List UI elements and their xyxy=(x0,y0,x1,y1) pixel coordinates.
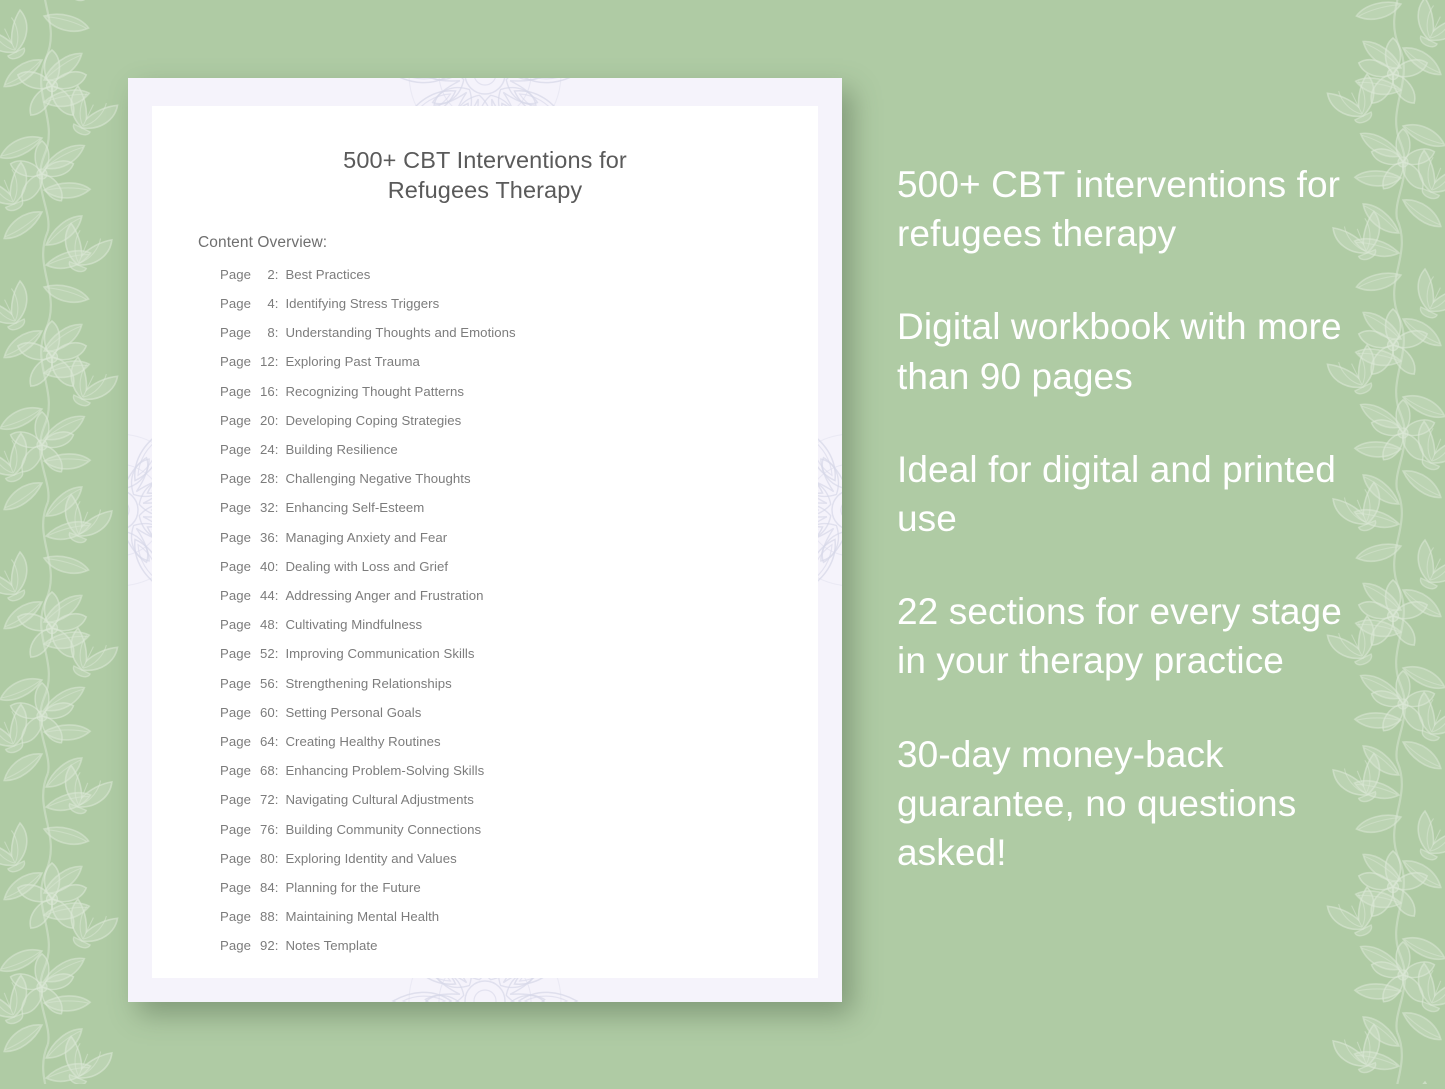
toc-page-number: 84 xyxy=(255,881,275,894)
marketing-column: 500+ CBT interventions for refugees ther… xyxy=(897,160,1349,877)
page-title-line-1: 500+ CBT Interventions for xyxy=(343,147,627,173)
toc-colon: : xyxy=(275,939,286,952)
toc-row[interactable]: Page 80:Exploring Identity and Values xyxy=(220,852,818,865)
toc-section-title: Best Practices xyxy=(285,268,370,281)
toc-section-title: Enhancing Problem-Solving Skills xyxy=(285,764,484,777)
toc-page-number: 80 xyxy=(255,852,275,865)
toc-section-title: Building Community Connections xyxy=(285,823,481,836)
toc-page-word: Page xyxy=(220,414,255,427)
toc-row[interactable]: Page 76:Building Community Connections xyxy=(220,823,818,836)
toc-row[interactable]: Page 12:Exploring Past Trauma xyxy=(220,355,818,368)
toc-section-title: Exploring Identity and Values xyxy=(285,852,456,865)
toc-page-number: 64 xyxy=(255,735,275,748)
toc-colon: : xyxy=(275,881,286,894)
page-title-line-2: Refugees Therapy xyxy=(388,177,583,203)
toc-section-title: Improving Communication Skills xyxy=(285,647,474,660)
toc-page-number: 60 xyxy=(255,706,275,719)
workbook-page: 500+ CBT Interventions for Refugees Ther… xyxy=(152,106,818,978)
toc-page-number: 2 xyxy=(255,268,275,281)
toc-row[interactable]: Page 24:Building Resilience xyxy=(220,443,818,456)
toc-section-title: Planning for the Future xyxy=(285,881,420,894)
toc-page-number: 12 xyxy=(255,355,275,368)
toc-section-title: Recognizing Thought Patterns xyxy=(285,385,464,398)
toc-page-word: Page xyxy=(220,443,255,456)
toc-colon: : xyxy=(275,764,286,777)
toc-colon: : xyxy=(275,706,286,719)
toc-page-number: 32 xyxy=(255,501,275,514)
marketing-line: 22 sections for every stage in your ther… xyxy=(897,587,1349,685)
toc-page-word: Page xyxy=(220,531,255,544)
toc-row[interactable]: Page 60:Setting Personal Goals xyxy=(220,706,818,719)
toc-row[interactable]: Page 36:Managing Anxiety and Fear xyxy=(220,531,818,544)
toc-page-word: Page xyxy=(220,268,255,281)
toc-row[interactable]: Page 4:Identifying Stress Triggers xyxy=(220,297,818,310)
toc-section-title: Enhancing Self-Esteem xyxy=(285,501,424,514)
toc-row[interactable]: Page 40:Dealing with Loss and Grief xyxy=(220,560,818,573)
toc-colon: : xyxy=(275,823,286,836)
toc-page-number: 92 xyxy=(255,939,275,952)
toc-page-number: 76 xyxy=(255,823,275,836)
toc-page-word: Page xyxy=(220,764,255,777)
toc-row[interactable]: Page 92:Notes Template xyxy=(220,939,818,952)
toc-section-title: Exploring Past Trauma xyxy=(285,355,419,368)
toc-page-number: 52 xyxy=(255,647,275,660)
toc-colon: : xyxy=(275,326,286,339)
toc-colon: : xyxy=(275,589,286,602)
marketing-line: Digital workbook with more than 90 pages xyxy=(897,302,1349,400)
toc-page-word: Page xyxy=(220,501,255,514)
toc-section-title: Notes Template xyxy=(285,939,377,952)
toc-colon: : xyxy=(275,647,286,660)
content-overview-label: Content Overview: xyxy=(152,206,818,252)
toc-page-word: Page xyxy=(220,326,255,339)
toc-colon: : xyxy=(275,297,286,310)
toc-colon: : xyxy=(275,268,286,281)
toc-page-word: Page xyxy=(220,706,255,719)
toc-page-number: 44 xyxy=(255,589,275,602)
toc-page-word: Page xyxy=(220,297,255,310)
toc-page-word: Page xyxy=(220,793,255,806)
toc-page-word: Page xyxy=(220,677,255,690)
toc-colon: : xyxy=(275,355,286,368)
toc-row[interactable]: Page 88:Maintaining Mental Health xyxy=(220,910,818,923)
toc-colon: : xyxy=(275,531,286,544)
toc-page-word: Page xyxy=(220,560,255,573)
toc-page-number: 88 xyxy=(255,910,275,923)
marketing-line: 500+ CBT interventions for refugees ther… xyxy=(897,160,1349,258)
toc-page-word: Page xyxy=(220,910,255,923)
toc-page-number: 68 xyxy=(255,764,275,777)
toc-row[interactable]: Page 16:Recognizing Thought Patterns xyxy=(220,385,818,398)
toc-page-number: 56 xyxy=(255,677,275,690)
toc-colon: : xyxy=(275,852,286,865)
toc-section-title: Dealing with Loss and Grief xyxy=(285,560,448,573)
toc-section-title: Developing Coping Strategies xyxy=(285,414,461,427)
toc-row[interactable]: Page 68:Enhancing Problem-Solving Skills xyxy=(220,764,818,777)
toc-colon: : xyxy=(275,677,286,690)
toc-colon: : xyxy=(275,472,286,485)
toc-page-word: Page xyxy=(220,589,255,602)
toc-colon: : xyxy=(275,560,286,573)
toc-page-number: 24 xyxy=(255,443,275,456)
toc-row[interactable]: Page 64:Creating Healthy Routines xyxy=(220,735,818,748)
toc-section-title: Navigating Cultural Adjustments xyxy=(285,793,473,806)
toc-page-number: 72 xyxy=(255,793,275,806)
toc-page-word: Page xyxy=(220,618,255,631)
toc-section-title: Understanding Thoughts and Emotions xyxy=(285,326,515,339)
toc-section-title: Addressing Anger and Frustration xyxy=(285,589,483,602)
toc-page-word: Page xyxy=(220,939,255,952)
toc-colon: : xyxy=(275,501,286,514)
toc-page-number: 20 xyxy=(255,414,275,427)
toc-section-title: Setting Personal Goals xyxy=(285,706,421,719)
toc-section-title: Maintaining Mental Health xyxy=(285,910,439,923)
marketing-line: Ideal for digital and printed use xyxy=(897,445,1349,543)
toc-colon: : xyxy=(275,618,286,631)
toc-row[interactable]: Page 72:Navigating Cultural Adjustments xyxy=(220,793,818,806)
toc-page-number: 28 xyxy=(255,472,275,485)
toc-page-number: 4 xyxy=(255,297,275,310)
toc-page-number: 48 xyxy=(255,618,275,631)
toc-colon: : xyxy=(275,414,286,427)
floral-vine-icon xyxy=(0,0,124,1084)
toc-row[interactable]: Page 52:Improving Communication Skills xyxy=(220,647,818,660)
toc-section-title: Challenging Negative Thoughts xyxy=(285,472,470,485)
toc-row[interactable]: Page 56:Strengthening Relationships xyxy=(220,677,818,690)
toc-colon: : xyxy=(275,443,286,456)
toc-section-title: Creating Healthy Routines xyxy=(285,735,440,748)
toc-row[interactable]: Page 2:Best Practices xyxy=(220,268,818,281)
product-card: 500+ CBT Interventions for Refugees Ther… xyxy=(128,78,842,1002)
table-of-contents: Page 2:Best PracticesPage 4:Identifying … xyxy=(152,252,818,953)
toc-section-title: Identifying Stress Triggers xyxy=(285,297,439,310)
toc-page-word: Page xyxy=(220,472,255,485)
toc-page-number: 8 xyxy=(255,326,275,339)
toc-row[interactable]: Page 44:Addressing Anger and Frustration xyxy=(220,589,818,602)
toc-row[interactable]: Page 48:Cultivating Mindfulness xyxy=(220,618,818,631)
toc-row[interactable]: Page 84:Planning for the Future xyxy=(220,881,818,894)
toc-section-title: Managing Anxiety and Fear xyxy=(285,531,447,544)
toc-page-word: Page xyxy=(220,647,255,660)
toc-page-word: Page xyxy=(220,852,255,865)
toc-page-number: 16 xyxy=(255,385,275,398)
toc-page-number: 36 xyxy=(255,531,275,544)
toc-colon: : xyxy=(275,910,286,923)
toc-colon: : xyxy=(275,385,286,398)
toc-page-word: Page xyxy=(220,823,255,836)
toc-row[interactable]: Page 8:Understanding Thoughts and Emotio… xyxy=(220,326,818,339)
toc-page-number: 40 xyxy=(255,560,275,573)
toc-page-word: Page xyxy=(220,355,255,368)
toc-section-title: Building Resilience xyxy=(285,443,397,456)
marketing-line: 30-day money-back guarantee, no question… xyxy=(897,730,1349,878)
toc-section-title: Cultivating Mindfulness xyxy=(285,618,422,631)
toc-page-word: Page xyxy=(220,385,255,398)
toc-page-word: Page xyxy=(220,735,255,748)
page-title: 500+ CBT Interventions for Refugees Ther… xyxy=(152,106,818,206)
toc-page-word: Page xyxy=(220,881,255,894)
toc-row[interactable]: Page 32:Enhancing Self-Esteem xyxy=(220,501,818,514)
toc-colon: : xyxy=(275,735,286,748)
toc-row[interactable]: Page 28:Challenging Negative Thoughts xyxy=(220,472,818,485)
toc-section-title: Strengthening Relationships xyxy=(285,677,451,690)
toc-colon: : xyxy=(275,793,286,806)
toc-row[interactable]: Page 20:Developing Coping Strategies xyxy=(220,414,818,427)
